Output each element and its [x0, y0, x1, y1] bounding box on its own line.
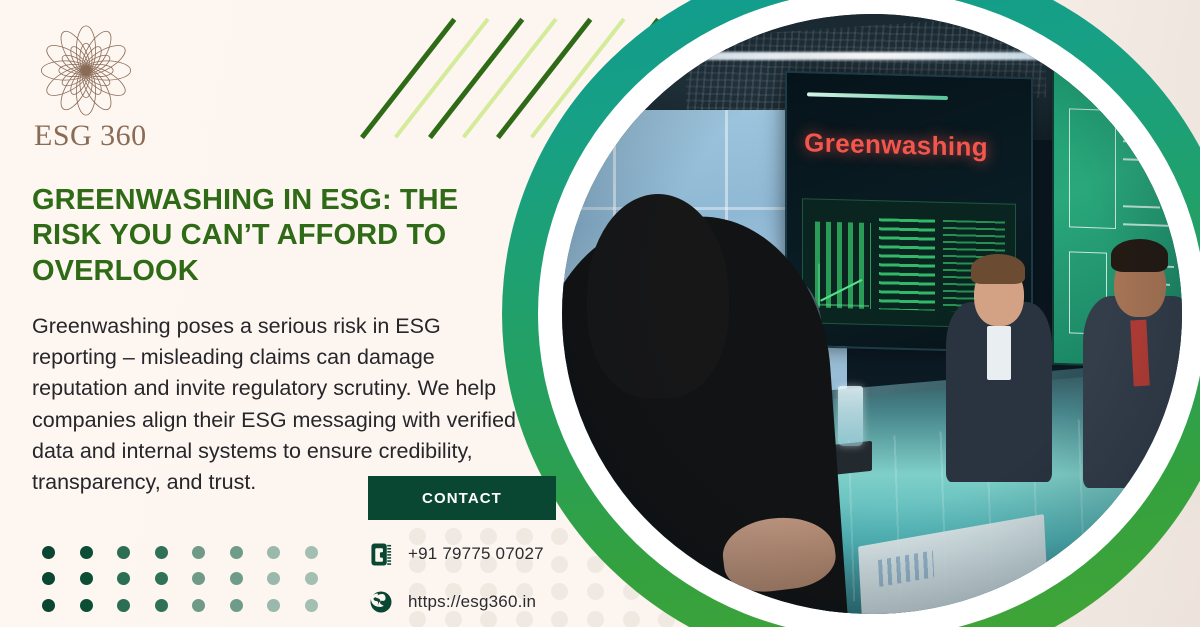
- dot: [305, 546, 318, 559]
- dot: [192, 546, 205, 559]
- body-paragraph: Greenwashing poses a serious risk in ESG…: [32, 311, 522, 498]
- dot: [267, 572, 280, 585]
- dot: [192, 572, 205, 585]
- text-column: ESG 360 GREENWASHING IN ESG: THE RISK YO…: [32, 18, 552, 498]
- dot-grid-green: [30, 539, 330, 619]
- dot: [192, 599, 205, 612]
- dot: [42, 572, 55, 585]
- brand-logo: ESG 360: [32, 18, 152, 153]
- dot: [80, 546, 93, 559]
- dot: [42, 546, 55, 559]
- contact-phone[interactable]: +91 79775 07027: [368, 540, 556, 568]
- dot: [267, 546, 280, 559]
- phone-number: +91 79775 07027: [408, 544, 544, 564]
- dot: [117, 572, 130, 585]
- page-title: GREENWASHING IN ESG: THE RISK YOU CAN’T …: [32, 183, 522, 289]
- dot: [80, 572, 93, 585]
- dot: [267, 599, 280, 612]
- boardroom-photo: Greenwashing: [562, 14, 1182, 614]
- dot: [80, 599, 93, 612]
- mandala-flower-icon: [32, 18, 140, 123]
- dot: [155, 546, 168, 559]
- dot: [155, 599, 168, 612]
- brand-name: ESG 360: [34, 119, 152, 153]
- dot: [230, 572, 243, 585]
- dot: [117, 546, 130, 559]
- cta-contact-block: CONTACT +91 79775 070: [368, 476, 556, 616]
- promo-banner: Greenwashing: [0, 0, 1200, 627]
- dot: [230, 599, 243, 612]
- dot: [117, 599, 130, 612]
- circular-photo-composition: Greenwashing: [502, 0, 1200, 627]
- globe-icon: [368, 588, 394, 616]
- dot: [305, 599, 318, 612]
- dot: [155, 572, 168, 585]
- phone-icon: [368, 540, 394, 568]
- contact-button[interactable]: CONTACT: [368, 476, 556, 520]
- website-url: https://esg360.in: [408, 592, 536, 612]
- contact-website[interactable]: https://esg360.in: [368, 588, 556, 616]
- dot: [42, 599, 55, 612]
- dot: [230, 546, 243, 559]
- dot: [305, 572, 318, 585]
